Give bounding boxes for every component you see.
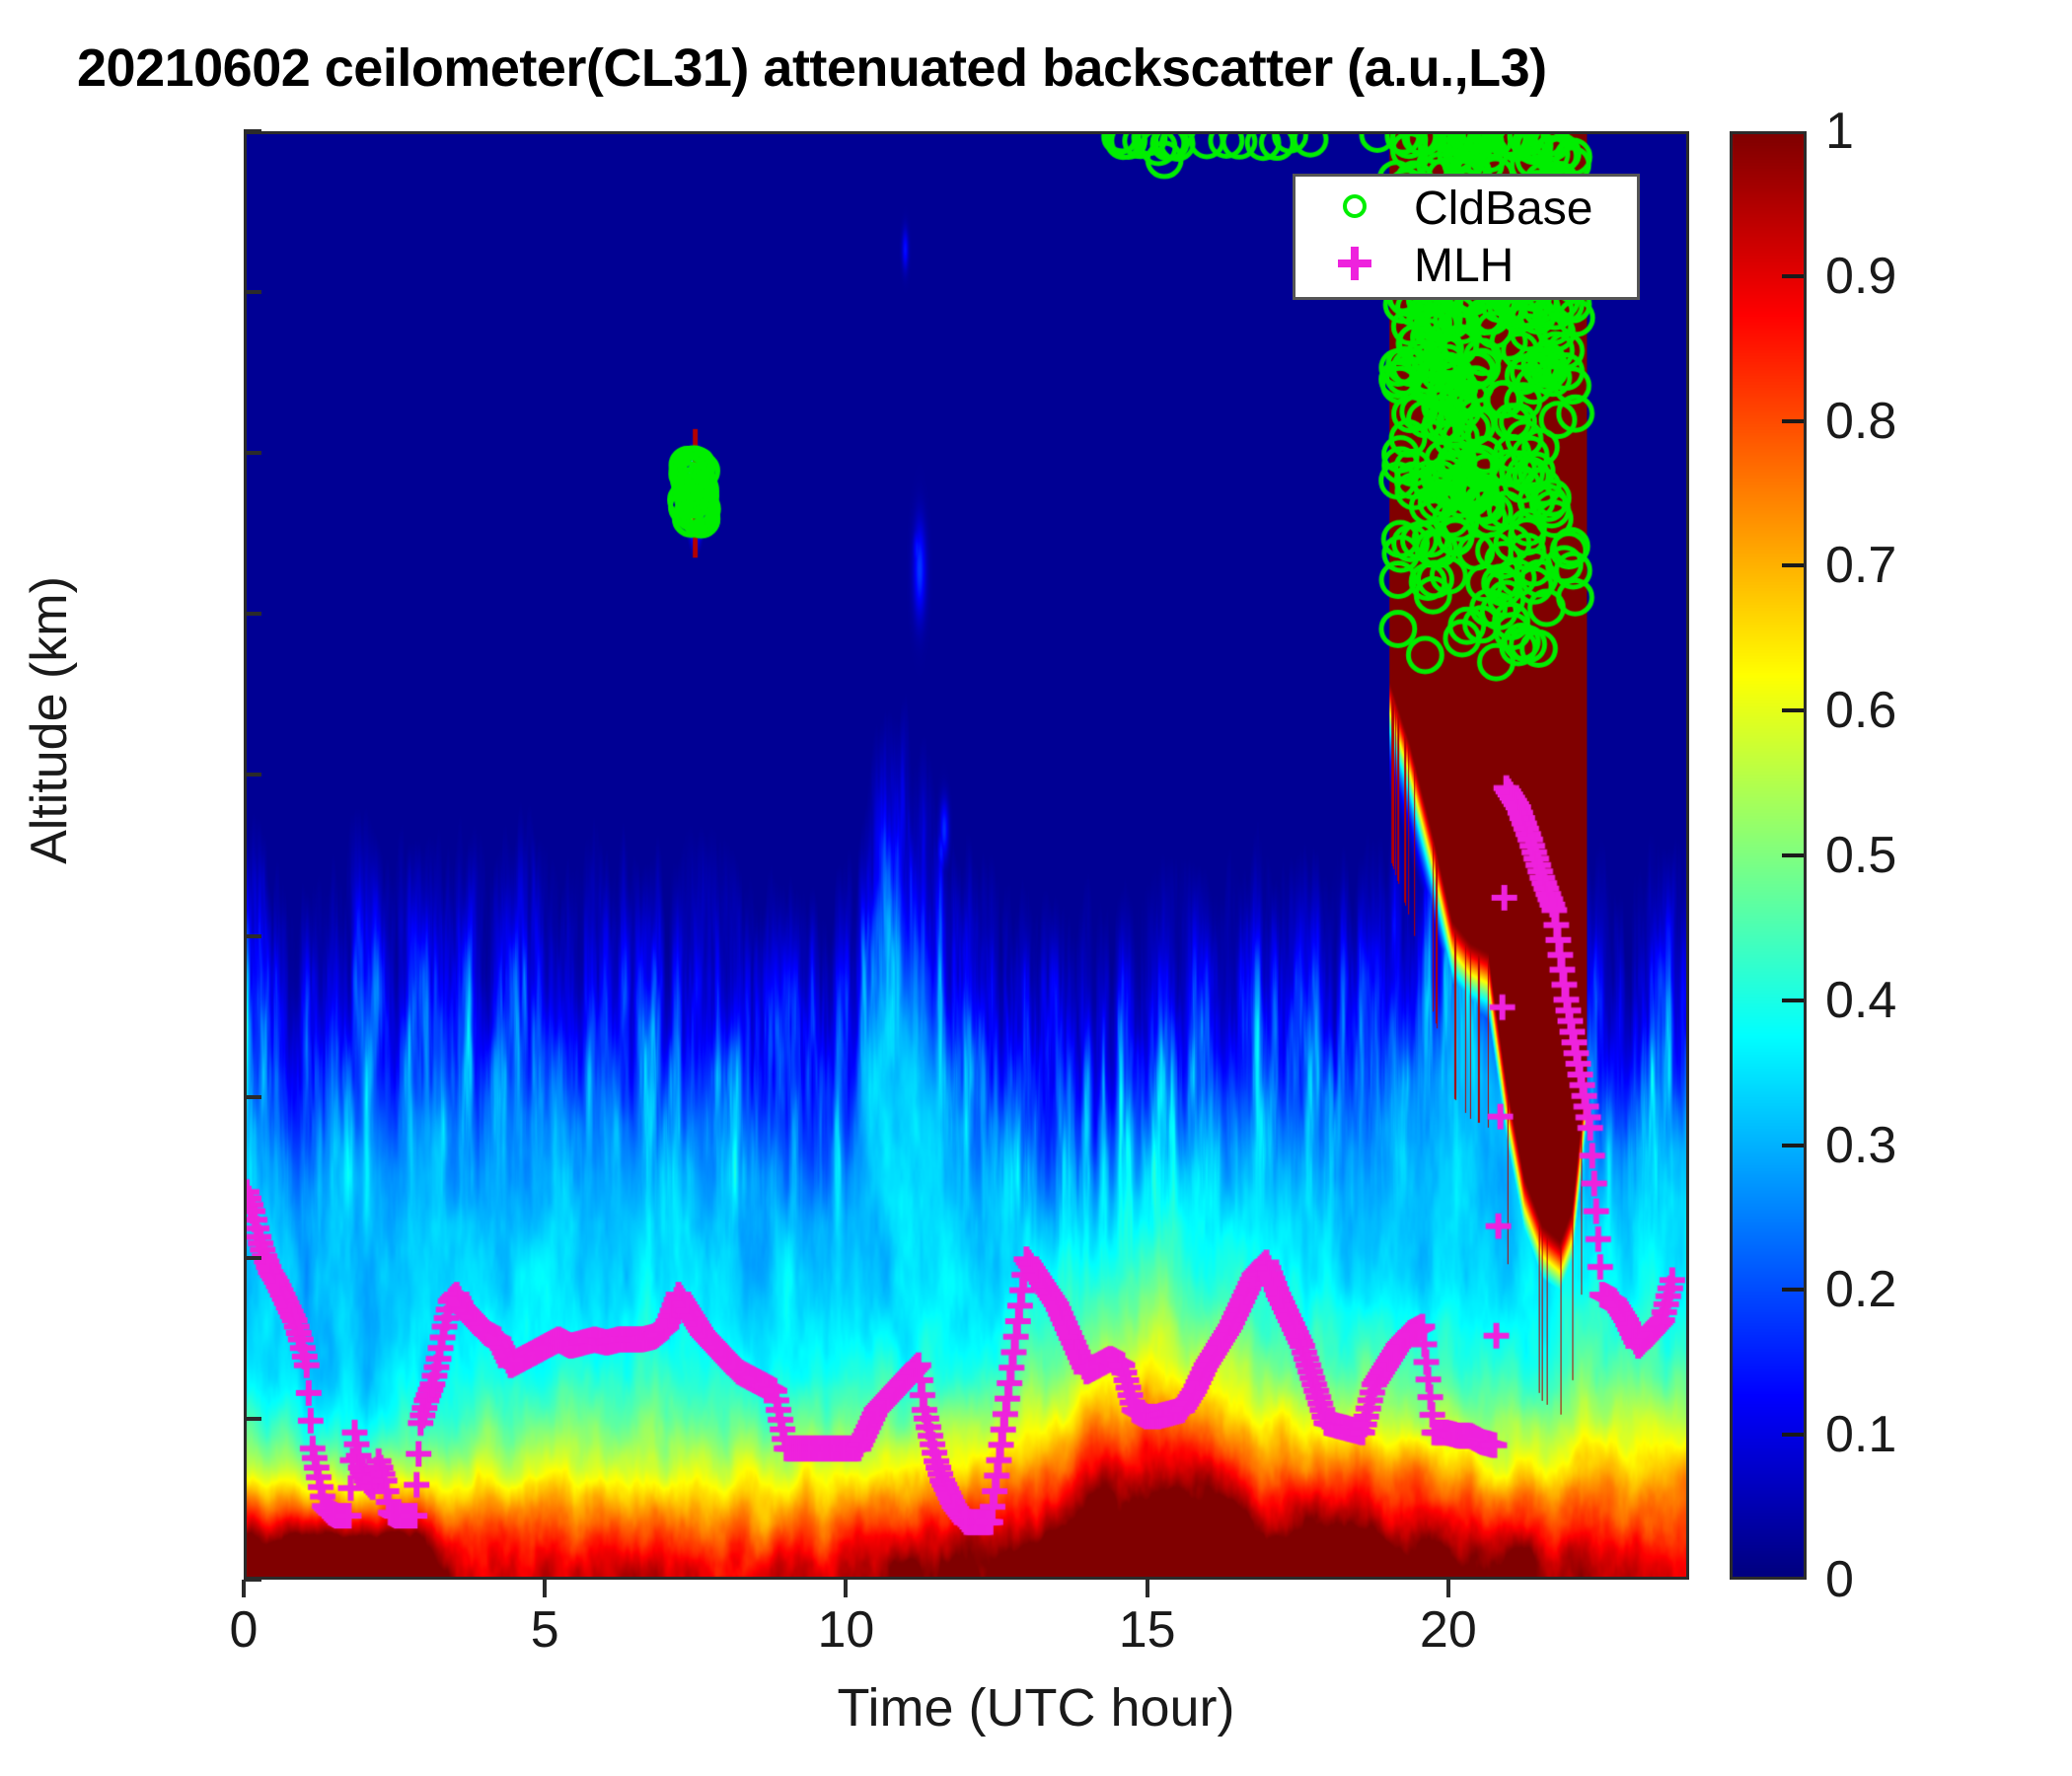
colorbar-tick-label: 0.4: [1825, 971, 1896, 1030]
colorbar-tick-mark: [1782, 274, 1804, 278]
y-axis-tick-mark: [244, 129, 261, 133]
x-axis-tick-label: 15: [1119, 1600, 1176, 1660]
chart-legend: CldBase MLH: [1293, 174, 1640, 300]
x-axis-tick-mark: [242, 1580, 246, 1597]
colorbar-tick-label: 0: [1825, 1550, 1854, 1609]
colorbar-tick-mark: [1782, 563, 1804, 567]
x-axis-tick-mark: [1146, 1580, 1149, 1597]
colorbar-tick-mark: [1782, 853, 1804, 857]
y-axis-tick-mark: [244, 1578, 261, 1582]
y-axis-tick-mark: [244, 1256, 261, 1260]
colorbar-tick-label: 0.2: [1825, 1260, 1896, 1319]
colorbar-tick-mark: [1782, 419, 1804, 423]
x-axis-label: Time (UTC hour): [0, 1677, 2072, 1739]
colorbar-tick-mark: [1782, 1144, 1804, 1147]
colorbar-tick-label: 1: [1825, 102, 1854, 161]
colorbar-tick-mark: [1782, 1288, 1804, 1292]
cldbase-circle-icon: [1295, 194, 1414, 223]
colorbar-tick-label: 0.7: [1825, 536, 1896, 595]
colorbar-tick-mark: [1782, 1433, 1804, 1437]
y-axis-tick-mark: [244, 612, 261, 616]
colorbar-tick-label: 0.9: [1825, 247, 1896, 306]
y-axis-tick-mark: [244, 1417, 261, 1421]
x-axis-tick-mark: [844, 1580, 848, 1597]
colorbar-tick-label: 0.8: [1825, 392, 1896, 451]
legend-item-cldbase: CldBase: [1295, 180, 1637, 237]
y-axis-label: Altitude (km): [20, 474, 79, 967]
marker-overlay-canvas: [247, 134, 1686, 1577]
x-axis-tick-label: 5: [531, 1600, 559, 1660]
x-axis-tick-label: 10: [817, 1600, 874, 1660]
x-axis-tick-label: 0: [230, 1600, 259, 1660]
x-axis-tick-mark: [543, 1580, 547, 1597]
legend-label-cldbase: CldBase: [1414, 182, 1592, 236]
y-axis-tick-mark: [244, 290, 261, 294]
colorbar-tick-label: 0.6: [1825, 681, 1896, 740]
colorbar-tick-mark: [1782, 708, 1804, 712]
y-axis-tick-mark: [244, 773, 261, 777]
y-axis-tick-mark: [244, 1095, 261, 1099]
x-axis-tick-mark: [1446, 1580, 1450, 1597]
mlh-plus-icon: [1295, 247, 1414, 285]
x-axis-tick-label: 20: [1420, 1600, 1477, 1660]
y-axis-tick-mark: [244, 451, 261, 455]
chart-title: 20210602 ceilometer(CL31) attenuated bac…: [77, 37, 1547, 99]
y-axis-tick-mark: [244, 934, 261, 938]
colorbar-tick-mark: [1782, 999, 1804, 1002]
legend-item-mlh: MLH: [1295, 237, 1637, 294]
colorbar-tick-label: 0.3: [1825, 1116, 1896, 1175]
colorbar-tick-label: 0.1: [1825, 1405, 1896, 1464]
colorbar-tick-label: 0.5: [1825, 826, 1896, 885]
legend-label-mlh: MLH: [1414, 239, 1514, 293]
heatmap-plot-area: [244, 131, 1689, 1580]
